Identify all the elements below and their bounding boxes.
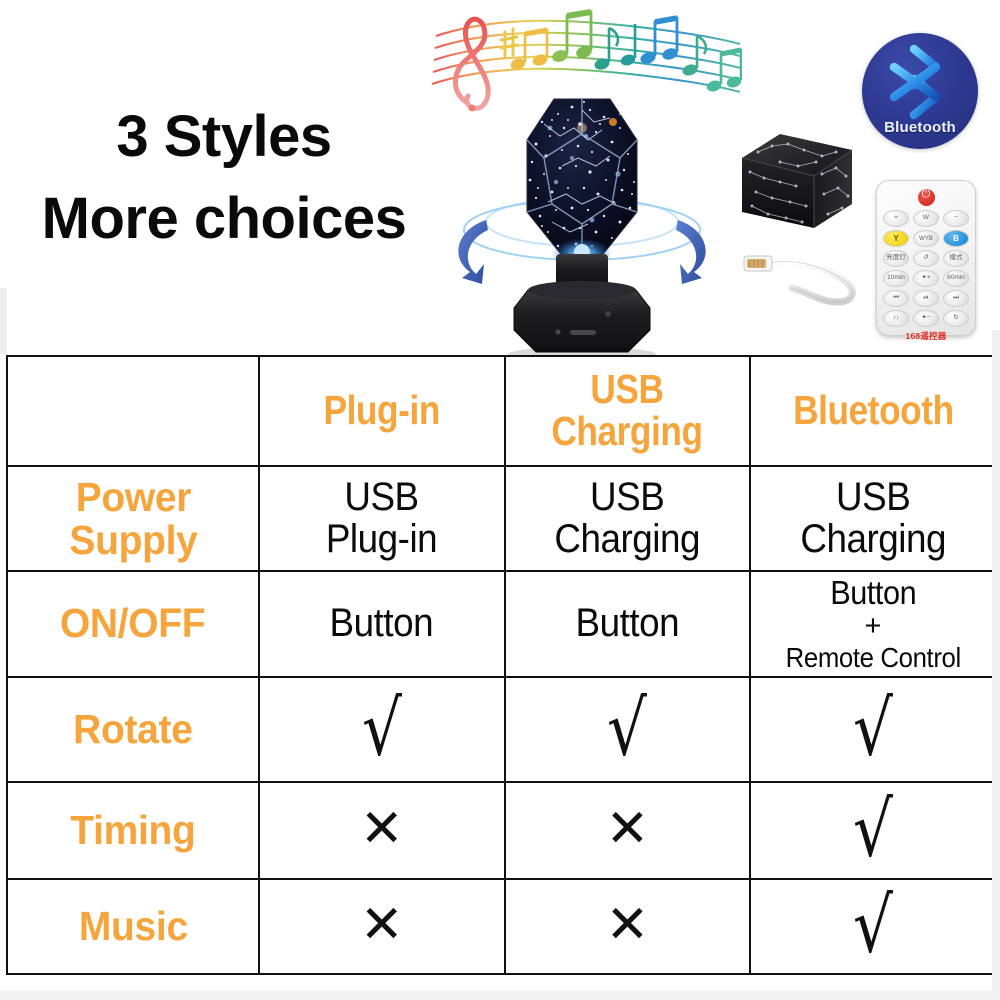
cell-line-3: Remote Control	[785, 642, 960, 674]
cell-line-2: +	[865, 613, 882, 641]
remote-key-blue[interactable]: B	[943, 230, 969, 247]
table-corner-cell	[7, 356, 259, 466]
table-row: Power Supply USB Plug-in USB Charging US…	[7, 466, 996, 571]
page-title: 3 Styles More choices	[24, 96, 424, 261]
row-label-timing: Timing	[7, 782, 259, 879]
remote-key[interactable]: W	[913, 210, 939, 227]
column-header-usb-charging: USB Charging	[505, 356, 751, 466]
table-row: Timing ✕ ✕ √	[7, 782, 996, 879]
cross-mark-icon: ✕	[360, 905, 404, 947]
composite-edge-artifact-left	[0, 288, 7, 354]
constellation-gift-box-icon	[736, 128, 858, 240]
cell-on-off-usb-charging: Button	[505, 571, 751, 677]
row-label-power-supply: Power Supply	[7, 466, 259, 571]
cross-mark-icon: ✕	[606, 809, 650, 851]
status-badge: Bluetooth	[862, 33, 978, 149]
remote-key[interactable]: ⏮	[883, 290, 909, 307]
check-mark-icon: √	[362, 699, 402, 758]
composite-edge-artifact-bottom	[0, 991, 1000, 1000]
cell-timing-bluetooth: √	[750, 782, 996, 879]
cell-timing-plug-in: ✕	[259, 782, 505, 879]
remote-key[interactable]: ↺	[913, 250, 939, 267]
row-label-on-off: ON/OFF	[7, 571, 259, 677]
remote-key[interactable]: 亮度灯	[883, 250, 909, 267]
table-row: Music ✕ ✕ √	[7, 879, 996, 974]
cross-mark-icon: ✕	[606, 905, 650, 947]
cell-music-usb-charging: ✕	[505, 879, 751, 974]
remote-key[interactable]: 10min	[883, 270, 909, 287]
headline-line-1: 3 Styles	[24, 96, 424, 178]
usb-cable-icon	[742, 246, 872, 308]
remote-key[interactable]: −	[943, 210, 969, 227]
cell-timing-usb-charging: ✕	[505, 782, 751, 879]
power-icon[interactable]	[918, 189, 935, 206]
cell-power-supply-plug-in: USB Plug-in	[259, 466, 505, 571]
remote-control[interactable]: + W − Y WYB B 亮度灯 ↺ 模式 10min ✦+ 60min ⏮ …	[876, 180, 976, 336]
product-comparison-infographic: 3 Styles More choices	[0, 0, 1000, 1000]
row-label-rotate: Rotate	[7, 677, 259, 782]
cell-music-bluetooth: √	[750, 879, 996, 974]
column-header-bluetooth: Bluetooth	[750, 356, 996, 466]
remote-model-label: 168遥控器	[883, 330, 969, 342]
remote-key[interactable]: ⏯	[913, 290, 939, 307]
cell-on-off-bluetooth: Button + Remote Control	[750, 571, 996, 677]
cell-music-plug-in: ✕	[259, 879, 505, 974]
check-mark-icon: √	[853, 896, 893, 955]
remote-key[interactable]: ✦+	[913, 270, 939, 287]
comparison-table: Plug-in USB Charging Bluetooth Power Sup…	[6, 355, 995, 972]
table-row: Rotate √ √ √	[7, 677, 996, 782]
cell-power-supply-usb-charging: USB Charging	[505, 466, 751, 571]
remote-key[interactable]: 60min	[943, 270, 969, 287]
remote-key[interactable]: ↻	[943, 310, 969, 327]
table-row: ON/OFF Button Button Button + Remote Con…	[7, 571, 996, 677]
cross-mark-icon: ✕	[360, 809, 404, 851]
remote-key[interactable]: 模式	[943, 250, 969, 267]
composite-edge-artifact-right	[992, 330, 1000, 1000]
bluetooth-icon	[882, 41, 958, 128]
headline-line-2: More choices	[24, 178, 424, 260]
cell-on-off-plug-in: Button	[259, 571, 505, 677]
remote-key[interactable]: +	[883, 210, 909, 227]
cell-rotate-bluetooth: √	[750, 677, 996, 782]
column-header-plug-in: Plug-in	[259, 356, 505, 466]
check-mark-icon: √	[853, 800, 893, 859]
hero-section: 3 Styles More choices	[0, 0, 1000, 355]
check-mark-icon: √	[607, 699, 647, 758]
table-header-row: Plug-in USB Charging Bluetooth	[7, 356, 996, 466]
star-projector-lamp-icon	[432, 62, 732, 357]
remote-key-yellow[interactable]: Y	[883, 230, 909, 247]
remote-key-wyb[interactable]: WYB	[913, 230, 939, 247]
cell-rotate-plug-in: √	[259, 677, 505, 782]
remote-key[interactable]: ✦−	[913, 310, 939, 327]
cell-power-supply-bluetooth: USB Charging	[750, 466, 996, 571]
row-label-music: Music	[7, 879, 259, 974]
remote-key[interactable]: ⏭	[943, 290, 969, 307]
check-mark-icon: √	[853, 699, 893, 758]
cell-line-1: Button	[830, 574, 916, 612]
remote-key[interactable]: ♪↕	[883, 310, 909, 327]
remote-keypad[interactable]: + W − Y WYB B 亮度灯 ↺ 模式 10min ✦+ 60min ⏮ …	[883, 210, 969, 327]
cell-rotate-usb-charging: √	[505, 677, 751, 782]
bluetooth-badge-label: Bluetooth	[862, 119, 978, 136]
